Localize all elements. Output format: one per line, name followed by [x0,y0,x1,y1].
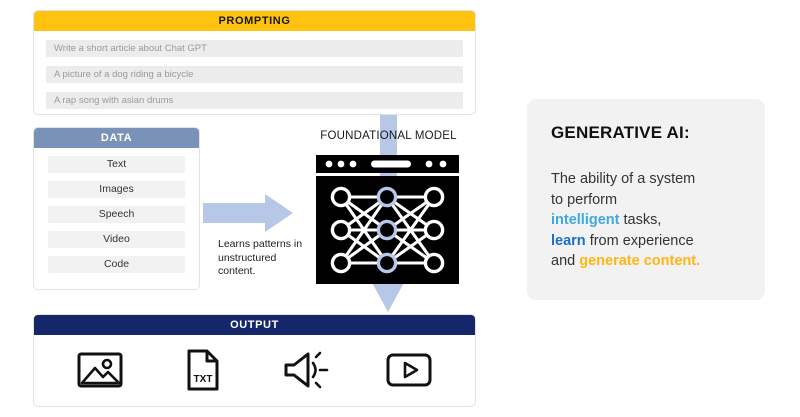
learns-patterns-caption: Learns patterns in unstructured content. [218,238,314,279]
foundational-model-icon [316,155,459,284]
prompt-row[interactable]: Write a short article about Chat GPT [46,40,463,57]
data-to-model-arrow [203,192,295,234]
data-item-speech[interactable]: Speech [48,206,185,223]
generative-ai-definition-card: GENERATIVE AI: The ability of a system t… [527,99,765,300]
svg-text:TXT: TXT [193,374,212,385]
definition-body: The ability of a system to perform intel… [551,169,743,272]
highlight-generate: generate content. [579,253,700,269]
prompt-list: Write a short article about Chat GPT A p… [34,31,475,109]
speaker-icon[interactable] [280,347,332,393]
data-item-images[interactable]: Images [48,181,185,198]
prompt-row[interactable]: A rap song with asian drums [46,92,463,109]
definition-line-2: to perform [551,192,617,208]
definition-before-generate: and [551,253,579,269]
data-item-list: Text Images Speech Video Code [34,148,199,273]
highlight-intelligent: intelligent [551,212,619,228]
prompting-card: PROMPTING Write a short article about Ch… [33,10,476,115]
definition-title: GENERATIVE AI: [551,123,743,143]
definition-after-learn: from experience [586,233,694,249]
definition-after-intelligent: tasks, [619,212,661,228]
data-header: DATA [34,128,199,148]
data-item-video[interactable]: Video [48,231,185,248]
output-icon-row: TXT [34,335,475,405]
definition-line-1: The ability of a system [551,171,695,187]
foundational-model-label: FOUNDATIONAL MODEL [296,130,481,142]
prompting-header: PROMPTING [34,11,475,31]
data-item-code[interactable]: Code [48,256,185,273]
video-play-icon[interactable] [383,347,435,393]
image-icon[interactable] [74,347,126,393]
prompt-row[interactable]: A picture of a dog riding a bicycle [46,66,463,83]
highlight-learn: learn [551,233,586,249]
infographic-canvas: Learns patterns in unstructured content.… [0,0,800,417]
output-card: OUTPUT TXT [33,314,476,407]
data-card: DATA Text Images Speech Video Code [33,127,200,290]
output-header: OUTPUT [34,315,475,335]
txt-document-icon[interactable]: TXT [177,347,229,393]
data-item-text[interactable]: Text [48,156,185,173]
